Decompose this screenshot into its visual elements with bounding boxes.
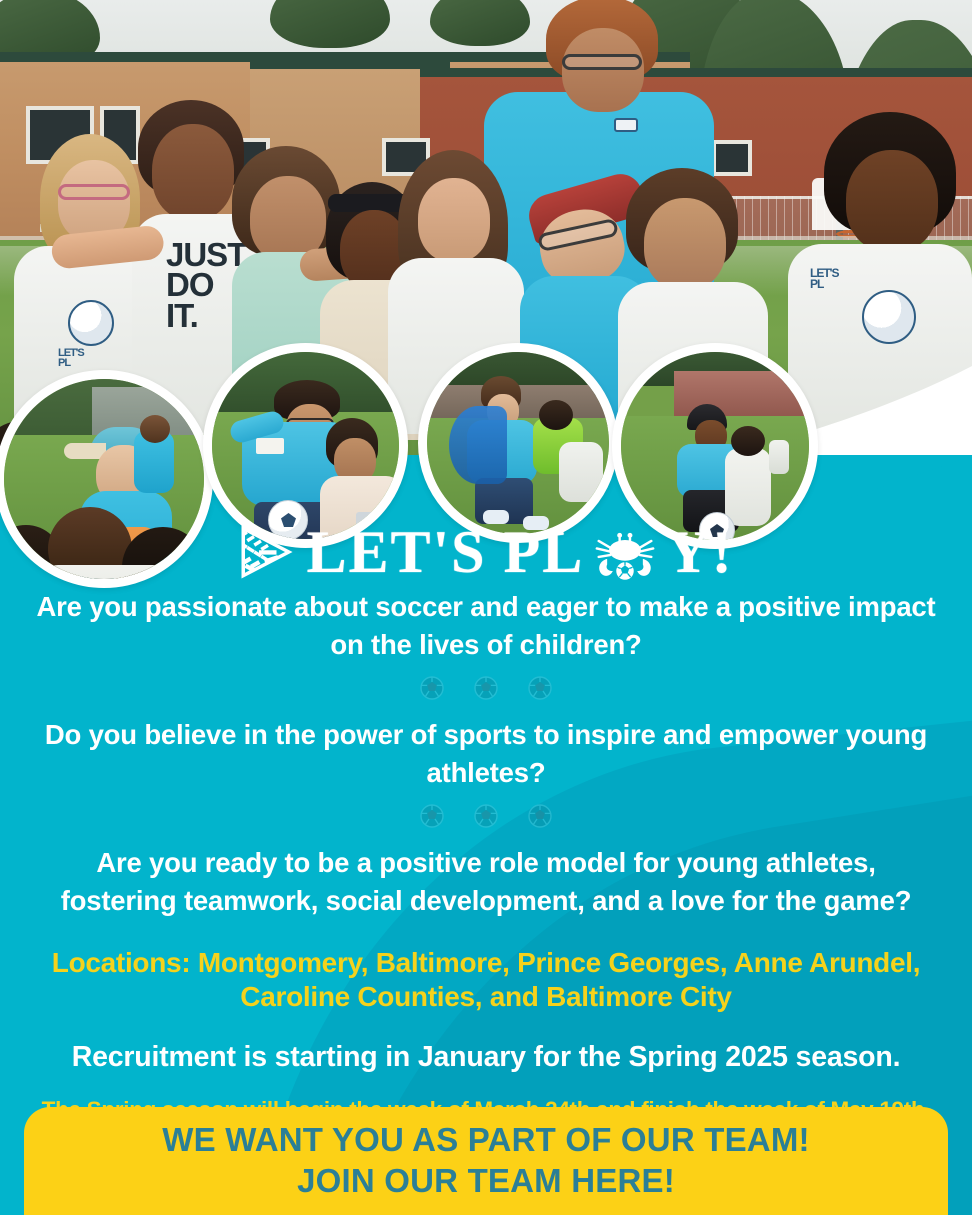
soccer-ball-icon xyxy=(420,804,444,828)
soccer-ball-icon xyxy=(528,804,552,828)
soccer-ball-icon xyxy=(474,804,498,828)
cta-headline: WE WANT YOU AS PART OF OUR TEAM! xyxy=(162,1121,809,1160)
question-1: Are you passionate about soccer and eage… xyxy=(36,588,936,664)
soccer-ball-icon xyxy=(528,676,552,700)
photo-child-head xyxy=(539,400,573,430)
soccer-ball-icon xyxy=(474,676,498,700)
flyer-poster: LET'S PL JUSTDOIT. xyxy=(0,0,972,1215)
photo-background-head xyxy=(140,415,170,443)
photo-distant-figure xyxy=(769,440,789,474)
question-2: Do you believe in the power of sports to… xyxy=(36,716,936,792)
soccer-ball-divider-1 xyxy=(26,676,946,700)
crab-with-soccer-ball-icon xyxy=(594,528,656,584)
maryland-flag-arrow-icon xyxy=(238,524,294,580)
copy-block: Are you passionate about soccer and eage… xyxy=(0,588,972,1123)
soccer-ball-divider-2 xyxy=(26,804,946,828)
window xyxy=(712,140,752,176)
logo-text-before: LET'S PL xyxy=(306,518,584,587)
question-3: Are you ready to be a positive role mode… xyxy=(36,844,936,920)
photo-child-head xyxy=(731,426,765,456)
locations-line: Locations: Montgomery, Baltimore, Prince… xyxy=(46,946,926,1014)
photo-child-white-shirt xyxy=(725,448,771,526)
recruitment-line: Recruitment is starting in January for t… xyxy=(26,1040,946,1074)
tree-icon xyxy=(430,0,530,46)
photo-white-shirt xyxy=(559,442,603,502)
logo-text-after: Y! xyxy=(666,518,733,587)
photo-name-tag xyxy=(256,438,284,454)
photo-pop-up-goal xyxy=(449,406,507,484)
soccer-ball-icon xyxy=(420,676,444,700)
cta-join-link[interactable]: JOIN OUR TEAM HERE! xyxy=(297,1162,675,1201)
circle-photo-3 xyxy=(418,343,618,543)
lets-play-logo: LET'S PL Y! xyxy=(0,516,972,588)
join-team-cta-banner[interactable]: WE WANT YOU AS PART OF OUR TEAM! JOIN OU… xyxy=(24,1107,948,1215)
